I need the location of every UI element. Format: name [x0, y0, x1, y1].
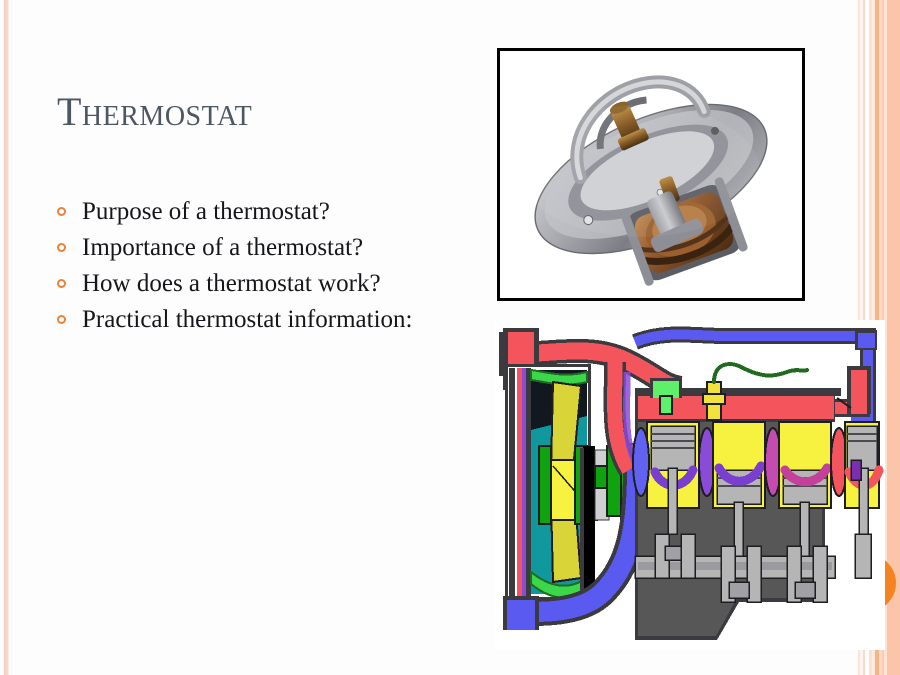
left-rule-stripe — [8, 0, 9, 675]
engine-cooling-system-diagram — [495, 320, 885, 650]
list-item: Importance of a thermostat? — [55, 232, 455, 264]
list-item: Purpose of a thermostat? — [55, 196, 455, 228]
bullet-ring-icon — [57, 207, 66, 216]
engine-diagram-illustration — [495, 320, 885, 650]
thermostat-photo — [497, 48, 805, 301]
left-decorative-rule — [0, 0, 14, 675]
bullet-list: Purpose of a thermostat? Importance of a… — [55, 196, 455, 340]
list-item: Practical thermostat information: — [55, 304, 455, 336]
bullet-text: How does a thermostat work? — [82, 268, 455, 300]
slide-title: Thermostat — [57, 88, 252, 135]
bullet-text: Importance of a thermostat? — [82, 232, 455, 264]
bullet-text: Practical thermostat information: — [82, 304, 455, 336]
bullet-ring-icon — [57, 279, 66, 288]
bullet-text: Purpose of a thermostat? — [82, 196, 455, 228]
bullet-ring-icon — [57, 315, 66, 324]
list-item: How does a thermostat work? — [55, 268, 455, 300]
thermostat-photo-illustration — [500, 51, 802, 298]
left-rule-stripe — [11, 0, 12, 675]
valve-spring — [633, 428, 649, 496]
slide-canvas: Thermostat Purpose of a thermostat? Impo… — [0, 0, 900, 675]
bullet-ring-icon — [57, 243, 66, 252]
